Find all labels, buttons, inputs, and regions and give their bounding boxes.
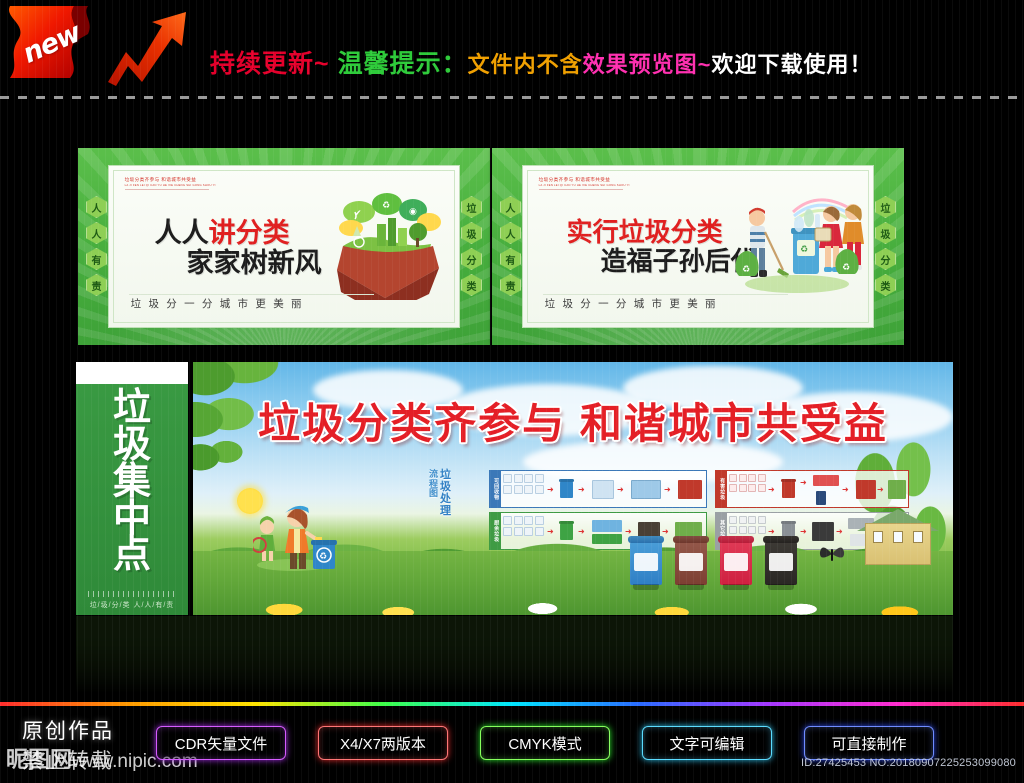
- hex-label: 垃: [461, 196, 482, 218]
- svg-text:♻: ♻: [842, 262, 850, 272]
- house-icon: [857, 503, 939, 565]
- hex-label: 圾: [461, 222, 482, 244]
- banner-reflection: [76, 616, 953, 694]
- promo-red-text: 持续更新~: [210, 50, 330, 78]
- svg-text:♻: ♻: [742, 264, 750, 274]
- arrow-icon: ➜: [578, 485, 585, 494]
- bin-hazardous: [720, 541, 752, 585]
- flow-item-grid: [503, 474, 544, 494]
- hex-label: 垃: [875, 196, 896, 218]
- eco-city-floating-island-illustration: ✔ ♻ ◉: [325, 188, 445, 300]
- people-recycling-illustration: ♻: [731, 184, 865, 304]
- micro-cn-text: 垃圾分类齐参与 和谐城市共受益: [539, 176, 630, 183]
- flow-thumb-facility: [856, 480, 876, 499]
- banner-left-hexcol-left: 人 人 有 责: [86, 196, 107, 296]
- micro-cn-text: 垃圾分类齐参与 和谐城市共受益: [125, 176, 216, 183]
- header-dashed-divider: [0, 96, 1024, 99]
- bin-icon-recyclable: [560, 481, 573, 498]
- hex-label: 圾: [875, 222, 896, 244]
- flow-thumb-container: [816, 491, 826, 505]
- title-red-part: 讲分类: [209, 218, 290, 248]
- flow-item-grid: [729, 474, 766, 492]
- promo-white-text: 欢迎下载使用！: [711, 52, 872, 77]
- arrow-icon: ➜: [877, 485, 884, 494]
- asset-id-text: ID:27425453 NO:20180907225253099080: [801, 757, 1016, 769]
- bin-label: [679, 553, 703, 571]
- feature-button-versions[interactable]: X4/X7两版本: [318, 726, 448, 760]
- hex-label: 责: [86, 274, 107, 296]
- banner-left-title: 人人讲分类 家家树新风: [155, 218, 322, 278]
- vertical-sign-trash-collection-point[interactable]: 垃 圾 集 中 点 垃/圾/分/类 人/人/有/责: [76, 362, 188, 615]
- hex-label: 人: [86, 222, 107, 244]
- arrow-icon: ➜: [664, 485, 671, 494]
- hex-label: 类: [875, 274, 896, 296]
- promo-orange-text: 文件内不含: [468, 52, 583, 77]
- hex-label: 分: [875, 248, 896, 270]
- new-ribbon: new: [8, 4, 112, 80]
- hex-label: 类: [461, 274, 482, 296]
- vsign-hatch-rule: [88, 591, 176, 597]
- arrow-icon: ➜: [547, 485, 554, 494]
- arrow-icon: ➜: [617, 485, 624, 494]
- title-line2: 家家树新风: [187, 248, 322, 278]
- hex-label: 分: [461, 248, 482, 270]
- trash-bins-row: [630, 533, 802, 585]
- svg-text:♻: ♻: [800, 244, 808, 254]
- bin-recyclable: [630, 541, 662, 585]
- vsign-char: 圾: [113, 427, 151, 464]
- banner-right-footer-rule: [543, 294, 788, 295]
- banner-card-right[interactable]: 垃圾分类齐参与 和谐城市共受益 LA JI FEN LEI QI CAN YU …: [492, 148, 904, 345]
- title-black-part: 人人: [155, 218, 209, 248]
- bin-kitchen: [675, 541, 707, 585]
- bin-icon-hazardous: [782, 481, 795, 498]
- main-banner-title: 垃圾分类齐参与 和谐城市共受益: [193, 390, 953, 451]
- butterfly-icon: [819, 543, 845, 565]
- flow-thumb: [592, 480, 614, 499]
- hex-label: 有: [86, 248, 107, 270]
- micro-rule: [539, 189, 623, 190]
- banner-right-inner: 垃圾分类齐参与 和谐城市共受益 LA JI FEN LEI QI CAN YU …: [522, 165, 875, 329]
- flow-thumb-safe: [888, 480, 906, 499]
- arrow-icon: ➜: [842, 485, 849, 494]
- svg-text:♻: ♻: [319, 551, 327, 561]
- banner-card-left[interactable]: 垃圾分类齐参与 和谐城市共受益 LA JI FEN LEI QI CAN YU …: [78, 148, 490, 345]
- banner-right-footer: 垃 圾 分 一 分 城 市 更 美 丽: [545, 296, 718, 311]
- girl-with-bin-icon: ♻: [253, 493, 339, 571]
- header-promo-text: 持续更新~ 温馨提示：文件内不含效果预览图~欢迎下载使用！: [210, 44, 872, 80]
- feature-button-editable-text[interactable]: 文字可编辑: [642, 726, 772, 760]
- banner-left-footer-rule: [129, 294, 374, 295]
- bin-label: [769, 553, 793, 571]
- banner-left-footer: 垃 圾 分 一 分 城 市 更 美 丽: [131, 296, 304, 311]
- vsign-char: 垃: [113, 390, 151, 427]
- hex-label: 人: [86, 196, 107, 218]
- micro-rule: [125, 189, 209, 190]
- hex-label: 人: [500, 196, 521, 218]
- bin-other: [765, 541, 797, 585]
- feature-button-print-ready[interactable]: 可直接制作: [804, 726, 934, 760]
- title-line1: 实行垃圾分类: [567, 218, 757, 247]
- banner-left-hexcol-right: 垃 圾 分 类: [461, 196, 482, 296]
- banner-right-hexcol-right: 垃 圾 分 类: [875, 196, 896, 296]
- vertical-sign-text: 垃 圾 集 中 点: [76, 390, 188, 574]
- banner-left-micro-heading: 垃圾分类齐参与 和谐城市共受益 LA JI FEN LEI QI CAN YU …: [125, 176, 216, 190]
- hex-label: 有: [500, 248, 521, 270]
- bin-label: [724, 553, 748, 571]
- flow-thumb-factory: [678, 480, 702, 499]
- original-work-label: 原创作品: [22, 715, 114, 745]
- flow-tag: 可回收物: [490, 471, 501, 507]
- hex-label: 责: [500, 274, 521, 296]
- banner-right-title: 实行垃圾分类 造福子孙后代: [567, 218, 757, 276]
- promo-green-text: 温馨提示：: [338, 50, 468, 78]
- flow-tag: 有害垃圾: [716, 471, 727, 507]
- arrow-icon: ➜: [768, 485, 775, 494]
- micro-py-text: LA JI FEN LEI QI CAN YU HE XIE CHENG SHI…: [125, 183, 216, 188]
- main-banner[interactable]: 垃圾分类齐参与 和谐城市共受益 垃圾 处理 流程 图 可回收物 ➜ ➜ ➜ ➜: [193, 362, 953, 615]
- banner-left-inner: 垃圾分类齐参与 和谐城市共受益 LA JI FEN LEI QI CAN YU …: [108, 165, 461, 329]
- rainbow-divider: [0, 702, 1024, 706]
- bin-label: [634, 553, 658, 571]
- arrow-icon: ➜: [800, 478, 807, 487]
- promo-header: new 持续更新~ 温馨提示：文件内不含效果预览图~欢迎下载使用！: [0, 0, 1024, 105]
- flow-thumb: [631, 480, 661, 499]
- hex-label: 人: [500, 222, 521, 244]
- vsign-char: 中: [113, 501, 151, 538]
- cloud-edge-icon: [76, 362, 188, 384]
- feature-button-cdr[interactable]: CDR矢量文件: [156, 726, 286, 760]
- promo-magenta-text: 效果预览图~: [583, 52, 712, 77]
- vertical-sign-footer: 垃/圾/分/类 人/人/有/责: [76, 600, 188, 610]
- vsign-char: 集: [113, 464, 151, 501]
- banner-right-micro-heading: 垃圾分类齐参与 和谐城市共受益 LA JI FEN LEI QI CAN YU …: [539, 176, 630, 190]
- feature-buttons: CDR矢量文件 X4/X7两版本 CMYK模式 文字可编辑 可直接制作: [156, 726, 1016, 760]
- banner-right-hexcol-left: 人 人 有 责: [500, 196, 521, 296]
- micro-py-text: LA JI FEN LEI QI CAN YU HE XIE CHENG SHI…: [539, 183, 630, 188]
- flow-thumb-truck: [813, 475, 839, 486]
- rising-arrow-icon: [104, 8, 200, 88]
- svg-text:✔: ✔: [354, 208, 362, 218]
- vsign-char: 点: [113, 537, 151, 574]
- svg-text:♻: ♻: [382, 200, 390, 210]
- flow-row-recyclable: 可回收物 ➜ ➜ ➜ ➜: [489, 470, 707, 508]
- feature-button-cmyk[interactable]: CMYK模式: [480, 726, 610, 760]
- watermark-name: 昵图网: [6, 747, 72, 772]
- svg-text:◉: ◉: [409, 206, 417, 216]
